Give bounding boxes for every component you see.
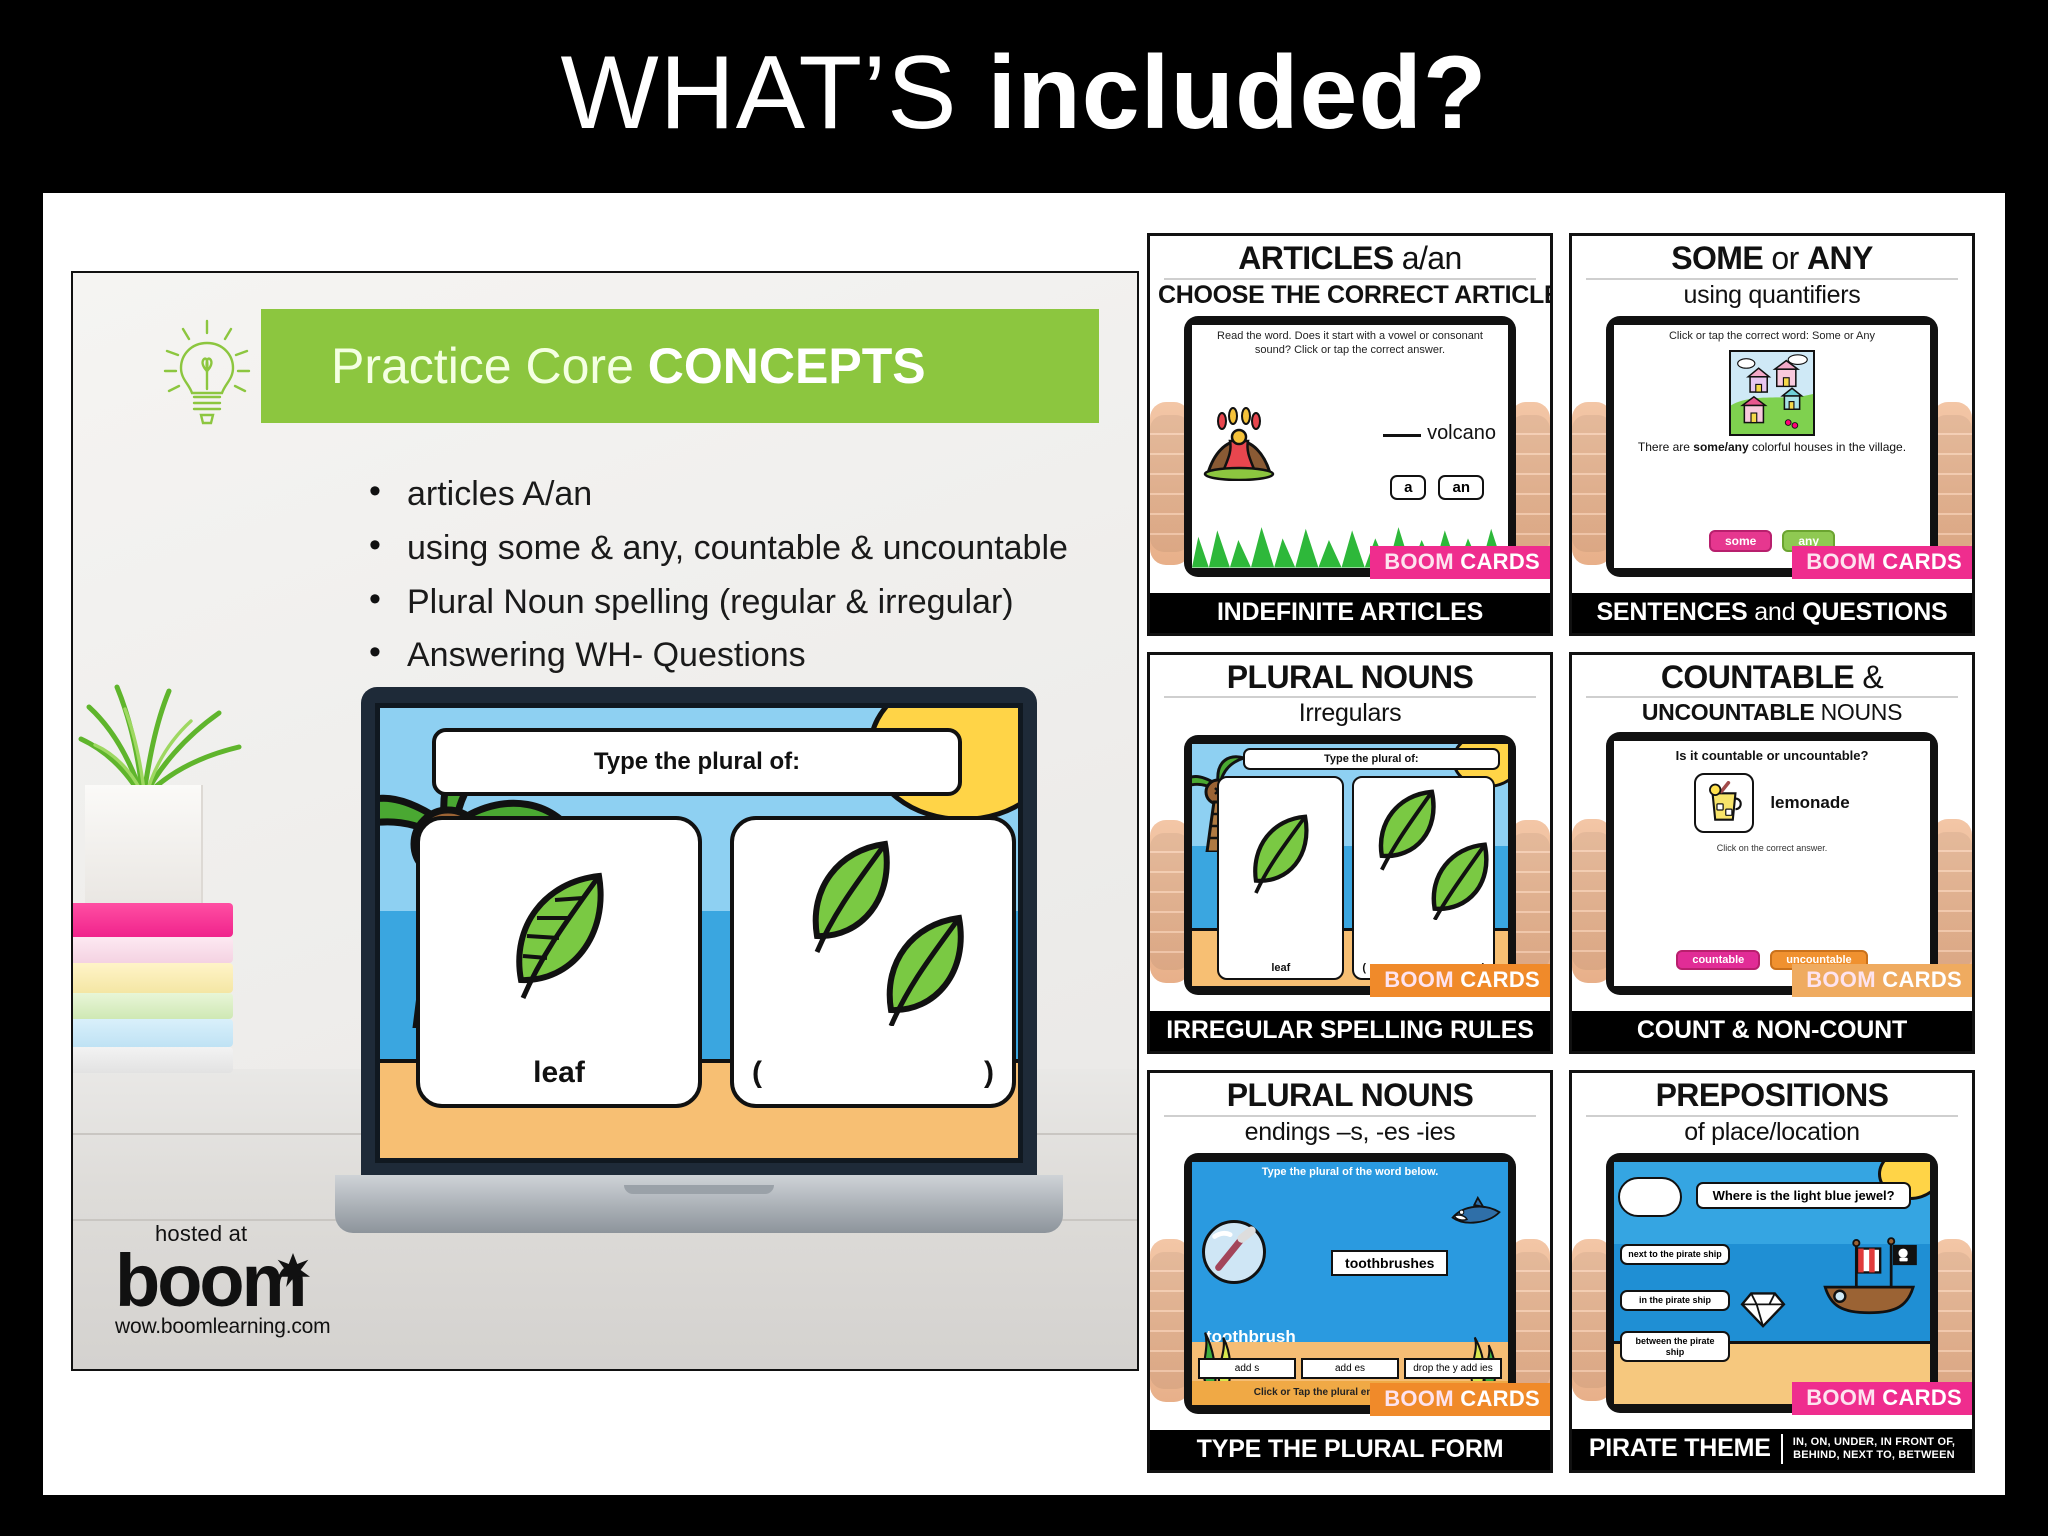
badge-word-2: CARDS <box>1882 967 1962 992</box>
hand-right <box>1932 402 1972 565</box>
hand-right <box>1510 1239 1550 1402</box>
thumbnail-photo: Click or tap the correct word: Some or A… <box>1572 312 1972 593</box>
list-item: Answering WH- Questions <box>363 634 1123 677</box>
book-item <box>73 1047 233 1073</box>
thumbnail-footer: IRREGULAR SPELLING RULES <box>1150 1011 1550 1051</box>
thumbnail-footer: SENTENCES and QUESTIONS <box>1572 593 1972 633</box>
pirate-ship-icon <box>1816 1235 1926 1319</box>
hand-right <box>1510 402 1550 565</box>
jewel-icon <box>1740 1288 1786 1328</box>
card-options: add s add es drop the y add ies <box>1198 1358 1502 1379</box>
book-item <box>73 903 233 937</box>
laptop-base <box>335 1175 1063 1233</box>
thumbnail-heading: PLURAL NOUNS Irregulars <box>1150 655 1550 731</box>
tablet-frame: Type the plural of the word below. <box>1184 1153 1516 1414</box>
thumbnail-subtitle: Irregulars <box>1158 700 1542 726</box>
badge-word-2: CARDS <box>1460 549 1540 574</box>
shark-icon <box>1448 1196 1504 1232</box>
laptop-lid: Type the plural of: <box>361 687 1037 1179</box>
badge-word-2: CARDS <box>1460 967 1540 992</box>
thumbnail-subtitle: using quantifiers <box>1580 282 1964 308</box>
card-body: lemonade <box>1614 773 1930 833</box>
laptop-notch <box>624 1185 774 1194</box>
subtitle-bold: UNCOUNTABLE <box>1642 699 1821 725</box>
option-add-es[interactable]: add es <box>1301 1358 1399 1379</box>
sentence-pre: There are <box>1638 440 1693 454</box>
subtitle-light: NOUNS <box>1821 699 1903 725</box>
book-item <box>73 963 233 993</box>
option-drop-y-add-ies[interactable]: drop the y add ies <box>1404 1358 1502 1379</box>
thumbnail-photo: Read the word. Does it start with a vowe… <box>1150 312 1550 593</box>
divider <box>1586 278 1958 280</box>
thumbnail-heading: ARTICLES a/an CHOOSE THE CORRECT ARTICLE <box>1150 236 1550 312</box>
leaf-icon <box>734 826 1012 1026</box>
plant-icon <box>73 651 253 801</box>
card-answer: toothbrushes <box>1331 1250 1448 1276</box>
boom-wordmark: boom <box>115 1247 304 1315</box>
choice-label: leaf <box>533 1056 585 1090</box>
laptop-screen: Type the plural of: <box>375 703 1023 1163</box>
thumbnail-photo: Where is the light blue jewel? next to t… <box>1572 1149 1972 1429</box>
card-options: a an <box>1390 475 1484 500</box>
card-instruction: Type the plural of the word below. <box>1192 1166 1508 1178</box>
option-countable[interactable]: countable <box>1676 950 1760 970</box>
thumbnail-countable[interactable]: COUNTABLE & UNCOUNTABLE NOUNS Is it coun… <box>1569 652 1975 1055</box>
badge-word-1: BOOM <box>1384 549 1454 574</box>
tablet-screen: Click or tap the correct word: Some or A… <box>1614 325 1930 568</box>
thumbnail-subtitle: UNCOUNTABLE NOUNS <box>1580 700 1964 724</box>
thumbnail-title-light: & <box>1862 659 1883 695</box>
tablet-frame: Type the plural of: leaf <box>1184 735 1516 996</box>
hand-right <box>1932 819 1972 983</box>
thumbnail-articles[interactable]: ARTICLES a/an CHOOSE THE CORRECT ARTICLE… <box>1147 233 1553 636</box>
option-between[interactable]: between the pirate ship <box>1620 1331 1730 1362</box>
page-title-light: WHAT’S <box>561 35 988 151</box>
product-thumbnail-grid: ARTICLES a/an CHOOSE THE CORRECT ARTICLE… <box>1147 233 1975 1473</box>
thumbnail-heading: SOME or ANY using quantifiers <box>1572 236 1972 312</box>
option-an[interactable]: an <box>1438 475 1484 500</box>
book-item <box>73 993 233 1019</box>
thumbnail-footer-label: PIRATE THEME <box>1589 1434 1771 1463</box>
content-canvas: Practice Core CONCEPTS articles A/an usi… <box>40 190 2008 1498</box>
boom-cards-badge: BOOM CARDS <box>1792 546 1972 579</box>
banner-text-light: Practice Core <box>331 338 648 394</box>
hand-right <box>1510 820 1550 983</box>
blank-line <box>1383 434 1421 437</box>
divider <box>1586 1115 1958 1117</box>
option-next-to[interactable]: next to the pirate ship <box>1620 1244 1730 1264</box>
banner-text: Practice Core CONCEPTS <box>331 337 926 395</box>
sentence-bold: some/any <box>1693 440 1748 454</box>
page-title: WHAT’S included? <box>561 41 1488 145</box>
thumbnail-footer-label: TYPE THE PLURAL FORM <box>1197 1435 1504 1464</box>
choice-singular[interactable]: leaf <box>416 816 702 1108</box>
footer-part-a: SENTENCES <box>1596 598 1747 626</box>
thumbnail-footer-label: INDEFINITE ARTICLES <box>1217 598 1483 627</box>
divider <box>1164 278 1536 280</box>
book-stack <box>73 903 233 1093</box>
hand-right <box>1932 1239 1972 1401</box>
leaf-icon <box>420 826 698 1026</box>
card-question: Where is the light blue jewel? <box>1696 1182 1911 1209</box>
plant-pot <box>85 785 203 907</box>
footer-part-b: and <box>1747 598 1802 626</box>
tablet-screen: Is it countable or uncountable? <box>1614 741 1930 986</box>
tablet-frame: Read the word. Does it start with a vowe… <box>1184 316 1516 577</box>
paren-open: ( <box>752 1056 762 1090</box>
footer-sub-line1: IN, ON, UNDER, IN FRONT OF, <box>1793 1436 1955 1449</box>
card-choices: leaf <box>416 816 1016 1108</box>
thumbnail-title: COUNTABLE & <box>1580 661 1964 694</box>
left-preview-panel: Practice Core CONCEPTS articles A/an usi… <box>71 271 1139 1371</box>
list-item: using some & any, countable & uncountabl… <box>363 527 1123 570</box>
divider <box>1164 696 1536 698</box>
tablet-screen: Read the word. Does it start with a vowe… <box>1192 325 1508 568</box>
thumbnail-subtitle: of place/location <box>1580 1119 1964 1145</box>
paren-close: ) <box>984 1056 994 1090</box>
book-item <box>73 937 233 963</box>
star-burst-icon <box>276 1253 310 1287</box>
thumbnail-title: SOME or ANY <box>1580 242 1964 275</box>
thumbnail-photo: Is it countable or uncountable? <box>1572 728 1972 1011</box>
badge-word-2: CARDS <box>1882 1385 1962 1410</box>
page-title-bold: included? <box>987 35 1487 151</box>
lightbulb-icon <box>161 313 253 433</box>
choice-singular[interactable]: leaf <box>1217 776 1344 981</box>
boom-cards-badge: BOOM CARDS <box>1370 546 1550 579</box>
leaf-icon <box>1219 782 1342 911</box>
thumbnail-subtitle: CHOOSE THE CORRECT ARTICLE <box>1158 282 1542 308</box>
tablet-frame: Where is the light blue jewel? next to t… <box>1606 1153 1938 1413</box>
thumbnail-footer: TYPE THE PLURAL FORM <box>1150 1430 1550 1470</box>
thumbnail-title: PREPOSITIONS <box>1580 1079 1964 1112</box>
card-instruction: Read the word. Does it start with a vowe… <box>1192 325 1508 358</box>
thumbnail-footer: INDEFINITE ARTICLES <box>1150 593 1550 633</box>
tablet-screen: Type the plural of: leaf <box>1192 744 1508 987</box>
divider <box>1164 1115 1536 1117</box>
thumbnail-some-any[interactable]: SOME or ANY using quantifiers Click or t… <box>1569 233 1975 636</box>
badge-word-1: BOOM <box>1806 549 1876 574</box>
thumbnail-title-bold: SOME <box>1671 240 1771 276</box>
volcano-icon <box>1200 407 1278 481</box>
badge-word-1: BOOM <box>1806 1385 1876 1410</box>
thumbnail-title-light: or <box>1771 240 1807 276</box>
thumbnail-plural-irregulars[interactable]: PLURAL NOUNS Irregulars <box>1147 652 1553 1055</box>
cloud-icon <box>1618 1177 1682 1217</box>
divider <box>1586 696 1958 698</box>
thumbnail-title-bold: ARTICLES <box>1238 240 1402 276</box>
thumbnail-plural-endings[interactable]: PLURAL NOUNS endings –s, -es -ies Type t… <box>1147 1070 1553 1473</box>
book-item <box>73 1019 233 1047</box>
badge-word-2: CARDS <box>1460 1386 1540 1411</box>
card-word-row: volcano <box>1383 422 1496 445</box>
choice-blank[interactable]: () <box>734 1056 1012 1090</box>
thumbnail-heading: PLURAL NOUNS endings –s, -es -ies <box>1150 1073 1550 1149</box>
lemonade-glass-icon <box>1694 773 1754 833</box>
thumbnail-title-light: a/an <box>1402 240 1462 276</box>
choice-plural[interactable]: () <box>730 816 1016 1108</box>
section-banner: Practice Core CONCEPTS <box>261 309 1099 423</box>
card-sentence: There are some/any colorful houses in th… <box>1614 436 1930 455</box>
divider <box>1781 1434 1783 1464</box>
choice-label: leaf <box>1271 962 1290 974</box>
badge-word-1: BOOM <box>1806 967 1876 992</box>
card-instruction: Type the plural of: <box>1243 748 1500 770</box>
thumbnail-title: PLURAL NOUNS <box>1158 1079 1542 1112</box>
thumbnail-title-bold: COUNTABLE <box>1661 659 1862 695</box>
list-item: articles A/an <box>363 473 1123 516</box>
thumbnail-photo: Type the plural of: leaf <box>1150 731 1550 1012</box>
card-word: volcano <box>1427 422 1496 444</box>
thumbnail-heading: COUNTABLE & UNCOUNTABLE NOUNS <box>1572 655 1972 729</box>
thumbnail-title-bold2: ANY <box>1807 240 1873 276</box>
thumbnail-title: ARTICLES a/an <box>1158 242 1542 275</box>
boom-cards-badge: BOOM CARDS <box>1370 1383 1550 1416</box>
thumbnail-prepositions[interactable]: PREPOSITIONS of place/location <box>1569 1070 1975 1473</box>
laptop-mockup: Type the plural of: <box>335 687 1063 1253</box>
boom-cards-badge: BOOM CARDS <box>1792 1382 1972 1415</box>
thumbnail-footer: PIRATE THEME IN, ON, UNDER, IN FRONT OF,… <box>1572 1429 1972 1470</box>
village-houses-icon <box>1729 350 1815 436</box>
footer-part-c: QUESTIONS <box>1802 598 1947 626</box>
thumbnail-footer-sub: IN, ON, UNDER, IN FRONT OF, BEHIND, NEXT… <box>1793 1436 1955 1462</box>
card-instruction: Is it countable or uncountable? <box>1614 741 1930 763</box>
badge-word-2: CARDS <box>1882 549 1962 574</box>
tablet-frame: Is it countable or uncountable? <box>1606 732 1938 995</box>
tablet-screen: Where is the light blue jewel? next to t… <box>1614 1162 1930 1404</box>
thumbnail-footer-label: SENTENCES and QUESTIONS <box>1596 598 1947 627</box>
option-add-s[interactable]: add s <box>1198 1358 1296 1379</box>
sentence-post: colorful houses in the village. <box>1749 440 1906 454</box>
thumbnail-title: PLURAL NOUNS <box>1158 661 1542 694</box>
tablet-frame: Click or tap the correct word: Some or A… <box>1606 316 1938 577</box>
card-prompt: Type the plural of: <box>432 728 962 796</box>
card-hint: Click on the correct answer. <box>1614 843 1930 853</box>
option-a[interactable]: a <box>1390 475 1426 500</box>
footer-sub-line2: BEHIND, NEXT TO, BETWEEN <box>1793 1449 1955 1462</box>
choice-plural[interactable]: ( ) <box>1352 776 1495 981</box>
leaf-icon <box>1354 780 1493 921</box>
badge-word-1: BOOM <box>1384 1386 1454 1411</box>
thumbnail-footer-label: IRREGULAR SPELLING RULES <box>1166 1016 1533 1045</box>
option-in[interactable]: in the pirate ship <box>1620 1290 1730 1310</box>
thumbnail-footer-label: COUNT & NON-COUNT <box>1637 1016 1907 1045</box>
list-item: Plural Noun spelling (regular & irregula… <box>363 581 1123 624</box>
toothbrush-icon <box>1202 1220 1266 1284</box>
thumbnail-photo: Type the plural of the word below. <box>1150 1149 1550 1430</box>
thumbnail-footer: COUNT & NON-COUNT <box>1572 1011 1972 1051</box>
option-some[interactable]: some <box>1709 530 1772 552</box>
tablet-screen: Type the plural of the word below. <box>1192 1162 1508 1405</box>
card-instruction: Click or tap the correct word: Some or A… <box>1614 325 1930 344</box>
boom-cards-badge: BOOM CARDS <box>1792 964 1972 997</box>
slide-page: WHAT’S included? <box>0 0 2048 1536</box>
badge-word-1: BOOM <box>1384 967 1454 992</box>
card-choices: leaf ( ) <box>1217 776 1495 981</box>
thumbnail-subtitle: endings –s, -es -ies <box>1158 1119 1542 1145</box>
boom-cards-badge: BOOM CARDS <box>1370 964 1550 997</box>
card-word: lemonade <box>1770 793 1849 813</box>
page-header: WHAT’S included? <box>0 0 2048 186</box>
feature-bullet-list: articles A/an using some & any, countabl… <box>363 473 1123 688</box>
paren-open: ( <box>1362 962 1366 974</box>
thumbnail-heading: PREPOSITIONS of place/location <box>1572 1073 1972 1149</box>
boom-logo: hosted at boom wow.boomlearning.com <box>115 1221 375 1339</box>
banner-text-bold: CONCEPTS <box>648 338 926 394</box>
